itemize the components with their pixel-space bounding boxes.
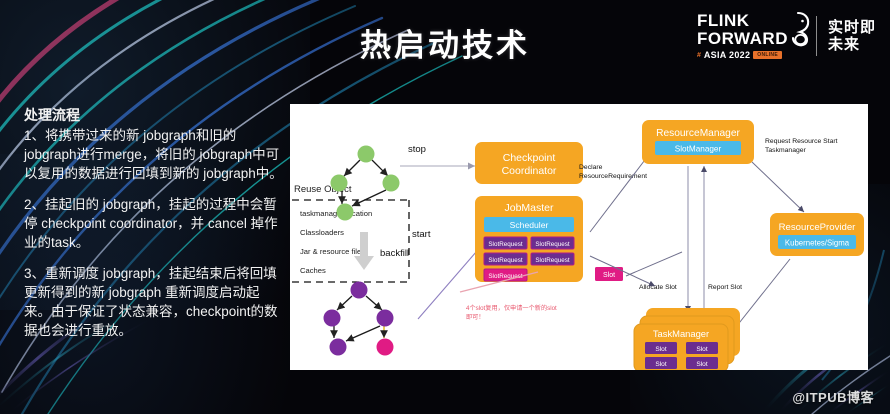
svg-text:Declare: Declare: [579, 164, 603, 171]
squirrel-icon: [778, 10, 812, 48]
svg-text:Coordinator: Coordinator: [502, 165, 557, 177]
description-heading: 处理流程: [24, 106, 286, 125]
svg-text:SlotRequest: SlotRequest: [535, 241, 570, 248]
jobmaster-box: JobMaster Scheduler SlotRequest SlotRequ…: [475, 196, 583, 282]
stop-edge: stop: [400, 144, 475, 166]
svg-text:SlotManager: SlotManager: [675, 145, 722, 154]
svg-text:Scheduler: Scheduler: [510, 220, 549, 230]
allocate-report-edges: Allocate Slot Report Slot: [639, 166, 742, 312]
logo-line-forward: FORWARD: [697, 30, 788, 47]
svg-text:Checkpoint: Checkpoint: [503, 152, 556, 164]
logo-online-badge: ONLINE: [753, 51, 782, 59]
svg-text:TaskManager: TaskManager: [653, 328, 709, 339]
checkpoint-coordinator-box: Checkpoint Coordinator: [475, 142, 583, 184]
edge-label-report-slot: Report Slot: [708, 284, 742, 291]
svg-text:taskmanager location: taskmanager location: [300, 209, 372, 218]
slide-root: 热启动技术 FLINK FORWARD # ASIA 2022 ONLINE 实…: [0, 0, 890, 414]
logo-event-name: ASIA 2022: [704, 50, 750, 60]
logo-chinese-tagline: 实时即 未来: [828, 19, 876, 53]
svg-text:Request Resource Start: Request Resource Start: [765, 138, 838, 145]
backfill-arrow: backfill: [354, 232, 409, 270]
svg-text:Jar & resource files: Jar & resource files: [300, 247, 365, 256]
reuse-note-line1: 4个slot复用，仅申请一个新的slot: [466, 304, 557, 312]
edge-label-start: start: [412, 229, 431, 240]
svg-text:ResourceRequirement: ResourceRequirement: [579, 173, 647, 180]
declare-resource-edge: Declare ResourceRequirement: [579, 148, 654, 232]
new-jobgraph-dag: [324, 282, 394, 356]
tagline-line2: 未来: [828, 36, 876, 53]
hash-icon: #: [697, 52, 701, 59]
logo-wordmark: FLINK FORWARD # ASIA 2022 ONLINE: [697, 12, 798, 60]
logo-event-row: # ASIA 2022 ONLINE: [697, 50, 788, 60]
request-resource-edge: Request Resource Start Taskmanager: [752, 138, 838, 212]
svg-text:Slot: Slot: [655, 361, 667, 368]
flink-forward-logo: FLINK FORWARD # ASIA 2022 ONLINE 实时即 未来: [697, 6, 876, 66]
logo-divider: [816, 16, 817, 56]
svg-text:SlotRequest: SlotRequest: [488, 241, 523, 248]
architecture-diagram: Reuse Object taskmanager location Classl…: [290, 104, 868, 370]
watermark: @ITPUB博客: [792, 387, 874, 406]
tagline-line1: 实时即: [828, 19, 876, 36]
resource-manager-box: ResourceManager SlotManager: [642, 120, 754, 164]
edge-label-stop: stop: [408, 144, 426, 155]
svg-text:Slot: Slot: [603, 272, 615, 279]
svg-text:JobMaster: JobMaster: [504, 202, 554, 214]
svg-text:SlotRequest: SlotRequest: [535, 257, 570, 264]
process-description: 处理流程 1、将携带过来的新 jobgraph和旧的 jobgraph进行mer…: [24, 106, 286, 340]
svg-text:Slot: Slot: [696, 346, 708, 353]
taskmanager-stack: TaskManager Slot Slot Slot Slot: [634, 308, 740, 370]
description-paragraph-3: 3、重新调度 jobgraph，挂起结束后将回填更新得到的新 jobgraph …: [24, 264, 286, 340]
description-paragraph-2: 2、挂起旧的 jobgraph，挂起的过程中会暂停 checkpoint coo…: [24, 195, 286, 252]
edge-label-allocate-slot: Allocate Slot: [639, 284, 677, 291]
reuse-object-panel: Reuse Object taskmanager location Classl…: [292, 184, 409, 282]
description-paragraph-1: 1、将携带过来的新 jobgraph和旧的 jobgraph进行merge，将旧…: [24, 126, 286, 183]
svg-text:Slot: Slot: [696, 361, 708, 368]
svg-text:Slot: Slot: [655, 346, 667, 353]
edge-label-backfill: backfill: [380, 248, 409, 259]
resource-provider-box: ResourceProvider Kubernetes/Sigma: [770, 213, 864, 256]
svg-text:ResourceManager: ResourceManager: [656, 128, 740, 139]
reuse-note-line2: 即可！: [466, 314, 485, 321]
svg-text:Classloaders: Classloaders: [300, 228, 344, 237]
svg-text:Taskmanager: Taskmanager: [765, 147, 807, 154]
svg-text:Kubernetes/Sigma: Kubernetes/Sigma: [785, 239, 850, 248]
logo-line-flink: FLINK: [697, 12, 788, 29]
svg-text:ResourceProvider: ResourceProvider: [779, 222, 857, 233]
svg-text:SlotRequest: SlotRequest: [488, 257, 523, 264]
svg-text:Caches: Caches: [300, 266, 326, 275]
